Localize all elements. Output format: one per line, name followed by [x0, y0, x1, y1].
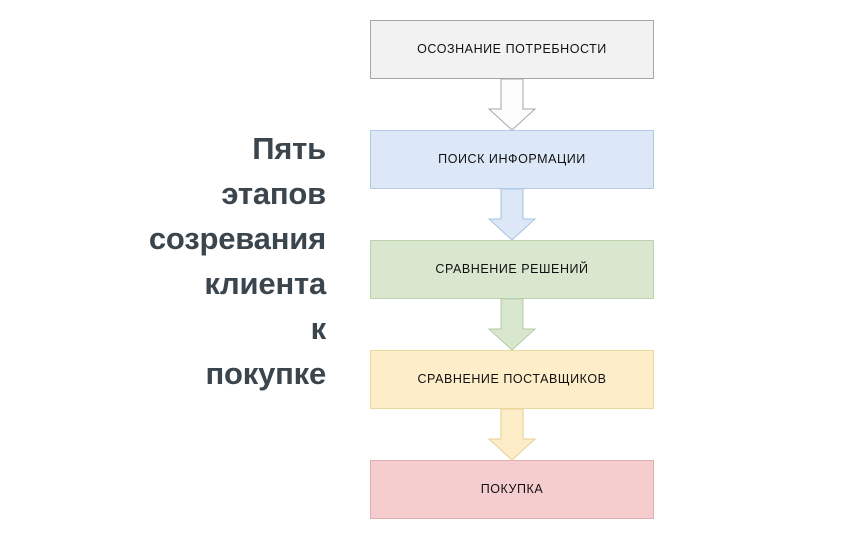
arrow-down-icon-2 [488, 189, 536, 241]
arrow-down-icon-4 [488, 409, 536, 461]
arrow-down-icon-3 [488, 299, 536, 351]
flow-node-4[interactable]: СРАВНЕНИЕ ПОСТАВЩИКОВ [370, 350, 654, 409]
flow-node-2-label: ПОИСК ИНФОРМАЦИИ [438, 152, 586, 167]
page-title: Пять этапов созревания клиента к покупке [40, 126, 326, 396]
flow-node-1-label: ОСОЗНАНИЕ ПОТРЕБНОСТИ [417, 42, 607, 57]
arrow-down-icon-1 [488, 79, 536, 131]
flow-node-5-label: ПОКУПКА [481, 482, 544, 497]
flowchart: ОСОЗНАНИЕ ПОТРЕБНОСТИ ПОИСК ИНФОРМАЦИИ С… [370, 20, 654, 521]
flow-node-3[interactable]: СРАВНЕНИЕ РЕШЕНИЙ [370, 240, 654, 299]
flow-node-4-label: СРАВНЕНИЕ ПОСТАВЩИКОВ [417, 372, 606, 387]
flow-node-2[interactable]: ПОИСК ИНФОРМАЦИИ [370, 130, 654, 189]
flow-node-1[interactable]: ОСОЗНАНИЕ ПОТРЕБНОСТИ [370, 20, 654, 79]
flow-node-3-label: СРАВНЕНИЕ РЕШЕНИЙ [435, 262, 588, 277]
flow-node-5[interactable]: ПОКУПКА [370, 460, 654, 519]
diagram-canvas: Пять этапов созревания клиента к покупке… [0, 0, 850, 541]
